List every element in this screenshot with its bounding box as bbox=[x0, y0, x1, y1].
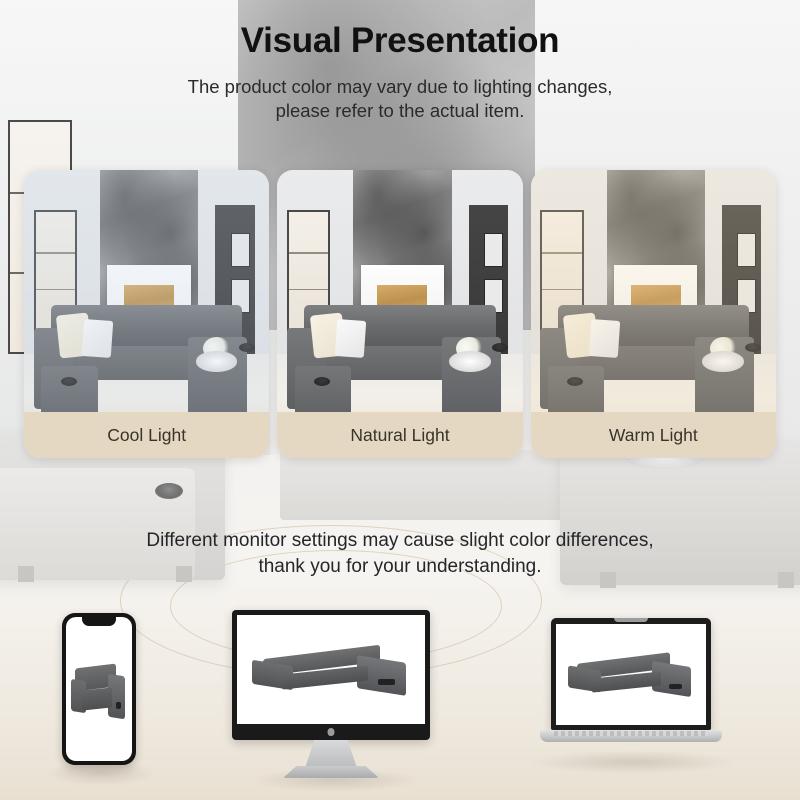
subtitle-line-1: The product color may vary due to lighti… bbox=[0, 75, 800, 100]
laptop-camera-notch bbox=[614, 618, 648, 622]
page-subtitle: The product color may vary due to lighti… bbox=[0, 61, 800, 125]
scene-printed-pillow bbox=[82, 319, 114, 358]
panel-label-cool: Cool Light bbox=[24, 412, 269, 458]
visual-presentation-page: Visual Presentation The product color ma… bbox=[0, 0, 800, 800]
panel-natural-light[interactable]: Natural Light bbox=[277, 170, 522, 458]
page-title: Visual Presentation bbox=[0, 0, 800, 61]
laptop-lid bbox=[551, 618, 711, 730]
disclaimer-line-1: Different monitor settings may cause sli… bbox=[0, 528, 800, 554]
device-mockups bbox=[0, 600, 800, 800]
panel-cool-light[interactable]: Cool Light bbox=[24, 170, 269, 458]
monitor-disclaimer: Different monitor settings may cause sli… bbox=[0, 528, 800, 580]
cupholder-icon bbox=[239, 343, 255, 352]
scene-printed-pillow bbox=[588, 319, 620, 358]
phone-screen bbox=[66, 617, 132, 761]
scene-serving-tray bbox=[449, 351, 491, 371]
subtitle-line-2: please refer to the actual item. bbox=[0, 99, 800, 124]
cupholder-icon bbox=[492, 343, 508, 352]
background-cupholder-icon bbox=[155, 483, 183, 499]
scene-picture-frame bbox=[231, 233, 250, 267]
panel-warm-light[interactable]: Warm Light bbox=[531, 170, 776, 458]
device-monitor[interactable] bbox=[232, 610, 430, 740]
scene-picture-frame bbox=[737, 233, 756, 267]
panel-label-natural: Natural Light bbox=[277, 412, 522, 458]
disclaimer-line-2: thank you for your understanding. bbox=[0, 554, 800, 580]
phone-notch bbox=[82, 617, 116, 626]
phone-product-image bbox=[66, 617, 132, 761]
cupholder-icon bbox=[116, 702, 122, 709]
background-sofa-middle bbox=[280, 450, 580, 520]
panel-label-warm: Warm Light bbox=[531, 412, 776, 458]
cupholder-icon bbox=[745, 343, 761, 352]
laptop-product-image bbox=[556, 624, 706, 725]
laptop-screen bbox=[556, 624, 706, 725]
lighting-comparison-panels: Cool Light bbox=[24, 170, 776, 458]
scene-serving-tray bbox=[702, 351, 744, 371]
scene-serving-tray bbox=[196, 351, 238, 371]
monitor-product-image bbox=[237, 615, 425, 724]
scene-picture-frame bbox=[484, 233, 503, 267]
laptop-keyboard bbox=[554, 731, 708, 736]
cupholder-icon bbox=[669, 684, 683, 689]
device-phone[interactable] bbox=[62, 613, 136, 765]
header: Visual Presentation The product color ma… bbox=[0, 0, 800, 150]
cupholder-icon bbox=[378, 679, 395, 684]
monitor-stand-neck bbox=[305, 740, 357, 768]
device-laptop[interactable] bbox=[540, 618, 722, 760]
scene-printed-pillow bbox=[335, 319, 367, 358]
apple-logo-icon bbox=[328, 728, 335, 736]
monitor-screen bbox=[237, 615, 425, 724]
monitor-stand-base bbox=[283, 766, 379, 778]
